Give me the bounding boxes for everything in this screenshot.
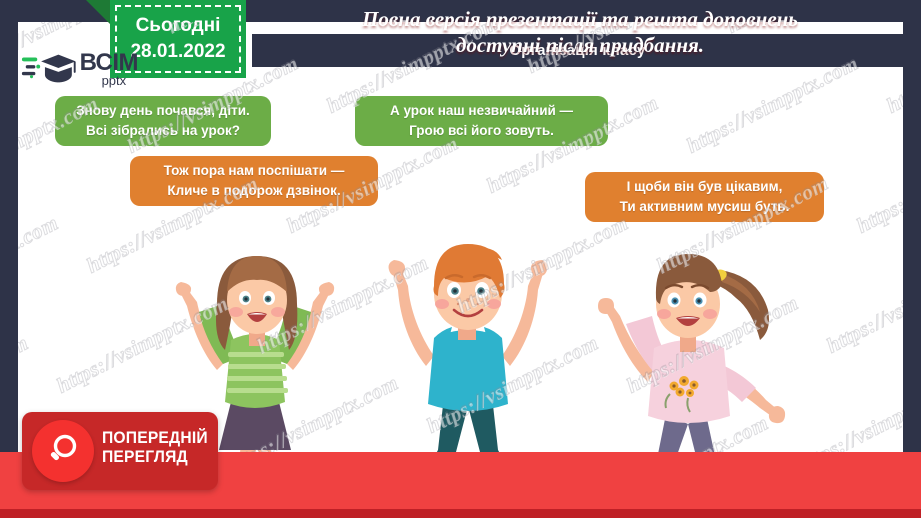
verse-bubble-4: І щоби він був цікавим, Ти активним муси…: [585, 172, 824, 222]
verse-bubble-2: А урок наш незвичайний — Грою всі його з…: [355, 96, 608, 146]
purchase-banner-text: Повна версія презентації та решта доповн…: [250, 6, 910, 59]
brand-logo[interactable]: ВСІМ pptx: [20, 44, 138, 94]
watermark-text: https://vsimpptx.com: [823, 250, 903, 358]
logo-name: ВСІМ: [80, 51, 138, 75]
banner-line-2: доступні після придбання.: [250, 32, 910, 58]
banner-line-1: Повна версія презентації та решта доповн…: [250, 6, 910, 32]
magnifier-icon: [44, 432, 82, 470]
watermark-text: https://vsimpptx.com: [18, 210, 62, 318]
preview-badge-circle: [32, 420, 94, 482]
preview-badge-label: ПОПЕРЕДНІЙ ПЕРЕГЛЯД: [102, 428, 203, 466]
date-badge-value: 28.01.2022: [130, 39, 225, 65]
preview-label-line-1: ПОПЕРЕДНІЙ: [102, 428, 203, 447]
preview-label-line-2: ПЕРЕГЛЯД: [102, 447, 203, 466]
presentation-slide: https://vsimpptx.com https://vsimpptx.co…: [0, 0, 921, 518]
verse-line: А урок наш незвичайний —: [390, 101, 573, 121]
verse-line: Ти активним мусиш буть.: [620, 197, 790, 217]
verse-line: Грою всі його зовуть.: [409, 121, 554, 141]
preview-badge[interactable]: ПОПЕРЕДНІЙ ПЕРЕГЛЯД: [22, 412, 218, 490]
verse-line: Знову день почався, діти.: [76, 101, 250, 121]
verse-bubble-3: Тож пора нам поспішати — Кличе в подорож…: [130, 156, 378, 206]
graduation-cap-icon: [20, 49, 78, 89]
verse-bubble-1: Знову день почався, діти. Всі зібрались …: [55, 96, 271, 146]
verse-line: І щоби він був цікавим,: [627, 177, 783, 197]
verse-line: Тож пора нам поспішати —: [164, 161, 345, 181]
verse-line: Всі зібрались на урок?: [86, 121, 240, 141]
watermark-text: https://vsimpptx.com: [853, 130, 903, 238]
verse-line: Кличе в подорож дзвінок.: [167, 181, 340, 201]
date-badge-label: Сьогодні: [136, 13, 221, 39]
